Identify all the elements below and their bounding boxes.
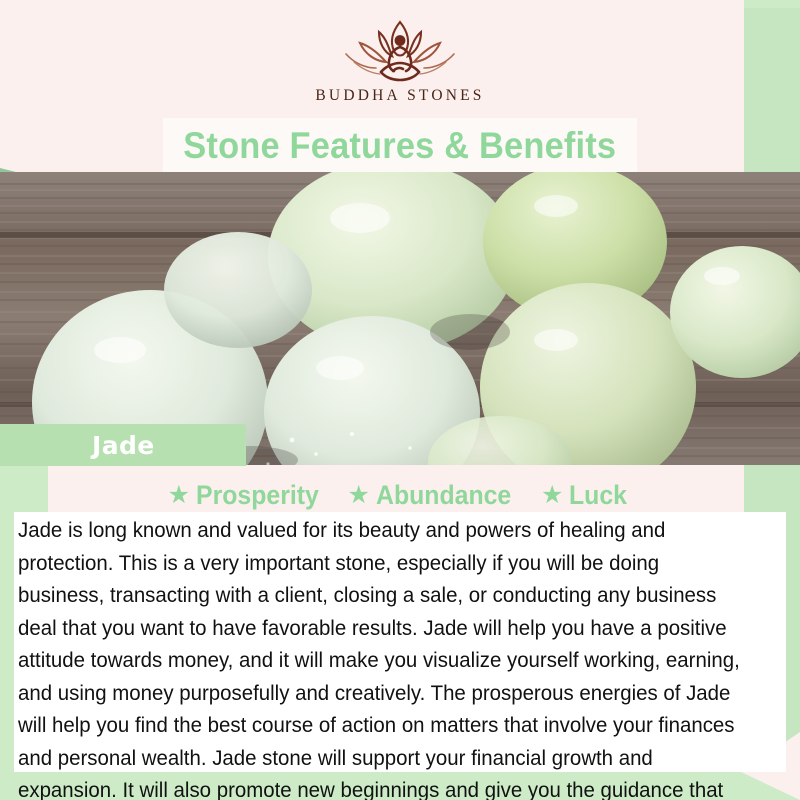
stone-photo <box>0 172 800 465</box>
benefit-label: Luck <box>569 480 627 511</box>
brand-logo: BUDDHA STONES <box>0 18 800 116</box>
benefits-row: ★ Prosperity ★ Abundance ★ Luck <box>0 478 800 512</box>
description-panel: Jade is long known and valued for its be… <box>14 512 786 772</box>
star-icon: ★ <box>348 483 370 508</box>
brand-name: BUDDHA STONES <box>315 87 484 105</box>
description-text: Jade is long known and valued for its be… <box>18 514 748 800</box>
stone-name-label: Jade <box>92 431 155 460</box>
stone-photo-image <box>0 172 800 465</box>
lotus-meditation-figure-icon <box>334 18 466 84</box>
star-icon: ★ <box>541 483 563 508</box>
benefit-label: Prosperity <box>196 480 319 511</box>
benefit-item-abundance: ★ Abundance <box>348 480 523 511</box>
page-title: Stone Features & Benefits <box>184 127 617 164</box>
stone-name-band: Jade <box>0 424 246 466</box>
star-icon: ★ <box>168 483 190 508</box>
infographic-card: BUDDHA STONES Stone Features & Benefits <box>0 0 800 800</box>
title-banner: Stone Features & Benefits <box>163 118 637 172</box>
benefit-label: Abundance <box>376 480 511 511</box>
benefit-item-prosperity: ★ Prosperity <box>168 480 330 511</box>
benefit-item-luck: ★ Luck <box>541 480 632 511</box>
